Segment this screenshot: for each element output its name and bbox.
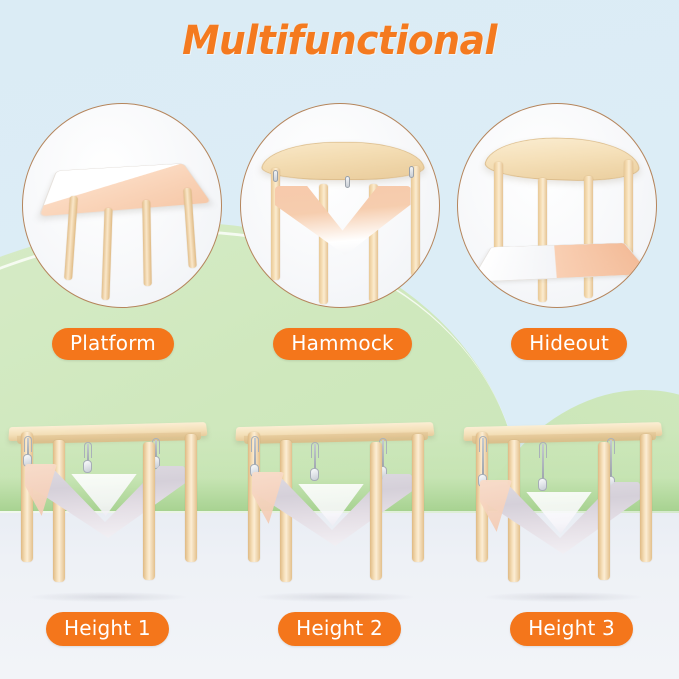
mode-cell-platform xyxy=(22,103,222,308)
table-leg xyxy=(411,166,420,276)
mode-photo-row xyxy=(0,103,679,308)
table-leg xyxy=(584,176,593,298)
table-leg xyxy=(271,168,280,280)
hammock-clip-icon xyxy=(273,170,278,182)
table-top-board xyxy=(258,142,426,180)
table-leg xyxy=(319,184,328,304)
mode-label-hammock: Hammock xyxy=(273,328,411,360)
hideout-floor-mat xyxy=(470,243,652,283)
hammock-fabric xyxy=(275,186,411,258)
height-label-2: Height 2 xyxy=(278,612,401,646)
table-top-board xyxy=(482,136,642,183)
platform-table-icon xyxy=(23,104,221,307)
table-shadow xyxy=(484,592,642,602)
table-leg xyxy=(598,442,610,580)
height-photo-2[interactable] xyxy=(222,418,447,608)
mode-label-hideout: Hideout xyxy=(511,328,627,360)
table-leg xyxy=(53,440,65,582)
hammock-chain xyxy=(482,438,484,478)
height-photo-3[interactable] xyxy=(450,418,675,608)
table-leg xyxy=(370,442,382,580)
mode-photo-hideout[interactable] xyxy=(457,103,657,308)
hammock-table-icon xyxy=(241,104,439,307)
mode-photo-platform[interactable] xyxy=(22,103,222,308)
mode-cell-hideout xyxy=(457,103,657,308)
mode-cell-hammock xyxy=(240,103,440,308)
table-leg xyxy=(143,442,155,580)
mode-label-row: Platform Hammock Hideout xyxy=(0,328,679,360)
table-shadow xyxy=(256,592,414,602)
page-title: Multifunctional xyxy=(20,18,658,64)
table-leg xyxy=(640,434,652,562)
mode-photo-hammock[interactable] xyxy=(240,103,440,308)
table-leg xyxy=(142,200,151,286)
table-shadow xyxy=(29,592,187,602)
table-leg xyxy=(538,178,547,302)
hammock-clip-icon xyxy=(345,176,350,188)
hammock-clip-icon xyxy=(409,166,414,178)
height-label-1: Height 1 xyxy=(46,612,169,646)
table-leg xyxy=(185,434,197,562)
height-label-3: Height 3 xyxy=(510,612,633,646)
hammock-chain xyxy=(610,440,612,480)
hideout-table-icon xyxy=(458,104,656,307)
height-photo-1[interactable] xyxy=(0,418,220,608)
hammock-ring-icon xyxy=(83,460,92,473)
height-photo-row xyxy=(0,418,679,608)
mode-label-platform: Platform xyxy=(52,328,174,360)
hammock-chain xyxy=(542,444,544,482)
infographic-stage: Multifunctional xyxy=(0,0,679,679)
table-leg xyxy=(101,208,112,300)
hammock-ring-icon xyxy=(538,478,547,491)
hammock-ring-icon xyxy=(310,468,319,481)
height-label-row: Height 1 Height 2 Height 3 xyxy=(0,612,679,646)
table-leg xyxy=(412,434,424,562)
